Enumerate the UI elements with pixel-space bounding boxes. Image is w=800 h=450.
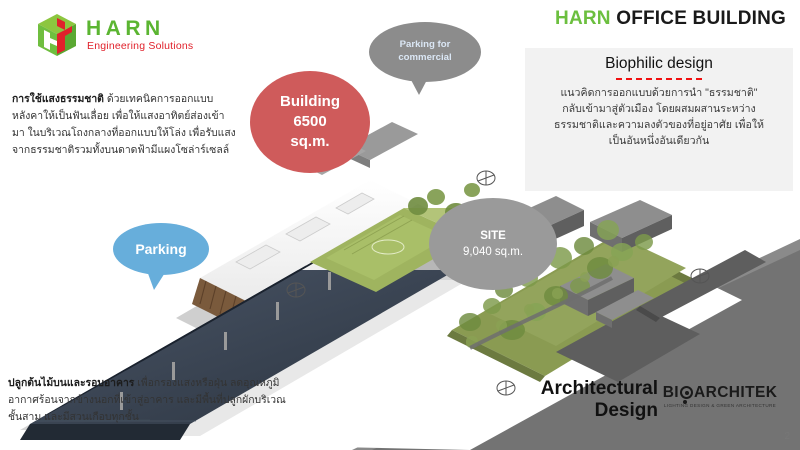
bioarchitek-o-icon: [680, 386, 693, 399]
callout-parking-commercial-line1: Parking for: [398, 39, 451, 52]
harn-logo: HARN Engineering Solutions: [34, 8, 214, 60]
footer-title-line1: Architectural: [518, 378, 658, 400]
bioarchitek-dot-icon: [683, 400, 687, 404]
biophilic-line: เป็นอันหนึ่งอันเดียวกัน: [533, 133, 785, 149]
callout-parking: Parking: [113, 223, 209, 275]
biophilic-panel-title: Biophilic design: [533, 55, 785, 74]
callout-parking-label: Parking: [135, 241, 186, 257]
biophilic-line: แนวคิดการออกแบบด้วยการนำ "ธรรมชาติ": [533, 85, 785, 101]
footer-title-line2: Design: [518, 400, 658, 422]
callout-building-line3: sq.m.: [280, 132, 340, 152]
callout-parking-commercial-line2: commercial: [398, 52, 451, 65]
callout-parking-commercial: Parking for commercial: [369, 22, 481, 82]
biophilic-design-panel: Biophilic design แนวคิดการออกแบบด้วยการน…: [525, 48, 793, 191]
harn-tagline: Engineering Solutions: [87, 41, 193, 52]
bioarchitek-wordmark: BI ARCHITEK: [660, 385, 780, 401]
page-title: HARN OFFICE BUILDING: [555, 8, 786, 30]
callout-site-value: 9,040 sq.m.: [463, 246, 523, 258]
biophilic-line: ธรรมชาติและความลงตัวของที่อยู่อาศัย เพื่…: [533, 117, 785, 133]
bioarchitek-logo: BI ARCHITEK LIGHTING DESIGN & GREEN ARCH…: [660, 385, 780, 408]
callout-building-area: Building 6500 sq.m.: [250, 71, 370, 173]
dashed-divider-icon: [616, 78, 702, 80]
callout-building-line1: Building: [280, 92, 340, 112]
note-daylight: การใช้แสงธรรมชาติ ด้วยเทคนิคการออกแบบหลั…: [12, 92, 236, 159]
biophilic-line: กลับเข้ามาสู่ตัวเมือง โดยผสมผสานระหว่าง: [533, 101, 785, 117]
note-greenery-lead: ปลูกต้นไม้บนและรอบอาคาร: [8, 378, 134, 389]
page-title-text: OFFICE BUILDING: [616, 8, 786, 29]
page-title-brand: HARN: [555, 8, 611, 29]
biophilic-panel-body: แนวคิดการออกแบบด้วยการนำ "ธรรมชาติ" กลับ…: [533, 85, 785, 149]
harn-cube-icon: [34, 12, 80, 58]
note-daylight-lead: การใช้แสงธรรมชาติ: [12, 94, 104, 105]
callout-building-line2: 6500: [280, 112, 340, 132]
slide-canvas: HARN Engineering Solutions HARN OFFICE B…: [0, 0, 800, 450]
bioarchitek-tagline: LIGHTING DESIGN & GREEN ARCHITECTURE: [660, 403, 780, 408]
callout-site-area: SITE 9,040 sq.m.: [429, 198, 557, 290]
harn-wordmark: HARN: [86, 18, 165, 39]
page-number: 2: [784, 431, 790, 442]
bioarchitek-prefix: BI: [663, 385, 679, 401]
callout-site-label: SITE: [463, 228, 523, 244]
footer-title: Architectural Design: [518, 378, 658, 423]
bioarchitek-suffix: ARCHITEK: [694, 385, 777, 401]
note-greenery: ปลูกต้นไม้บนและรอบอาคาร เพื่อกรองแสงหรือ…: [8, 376, 294, 427]
